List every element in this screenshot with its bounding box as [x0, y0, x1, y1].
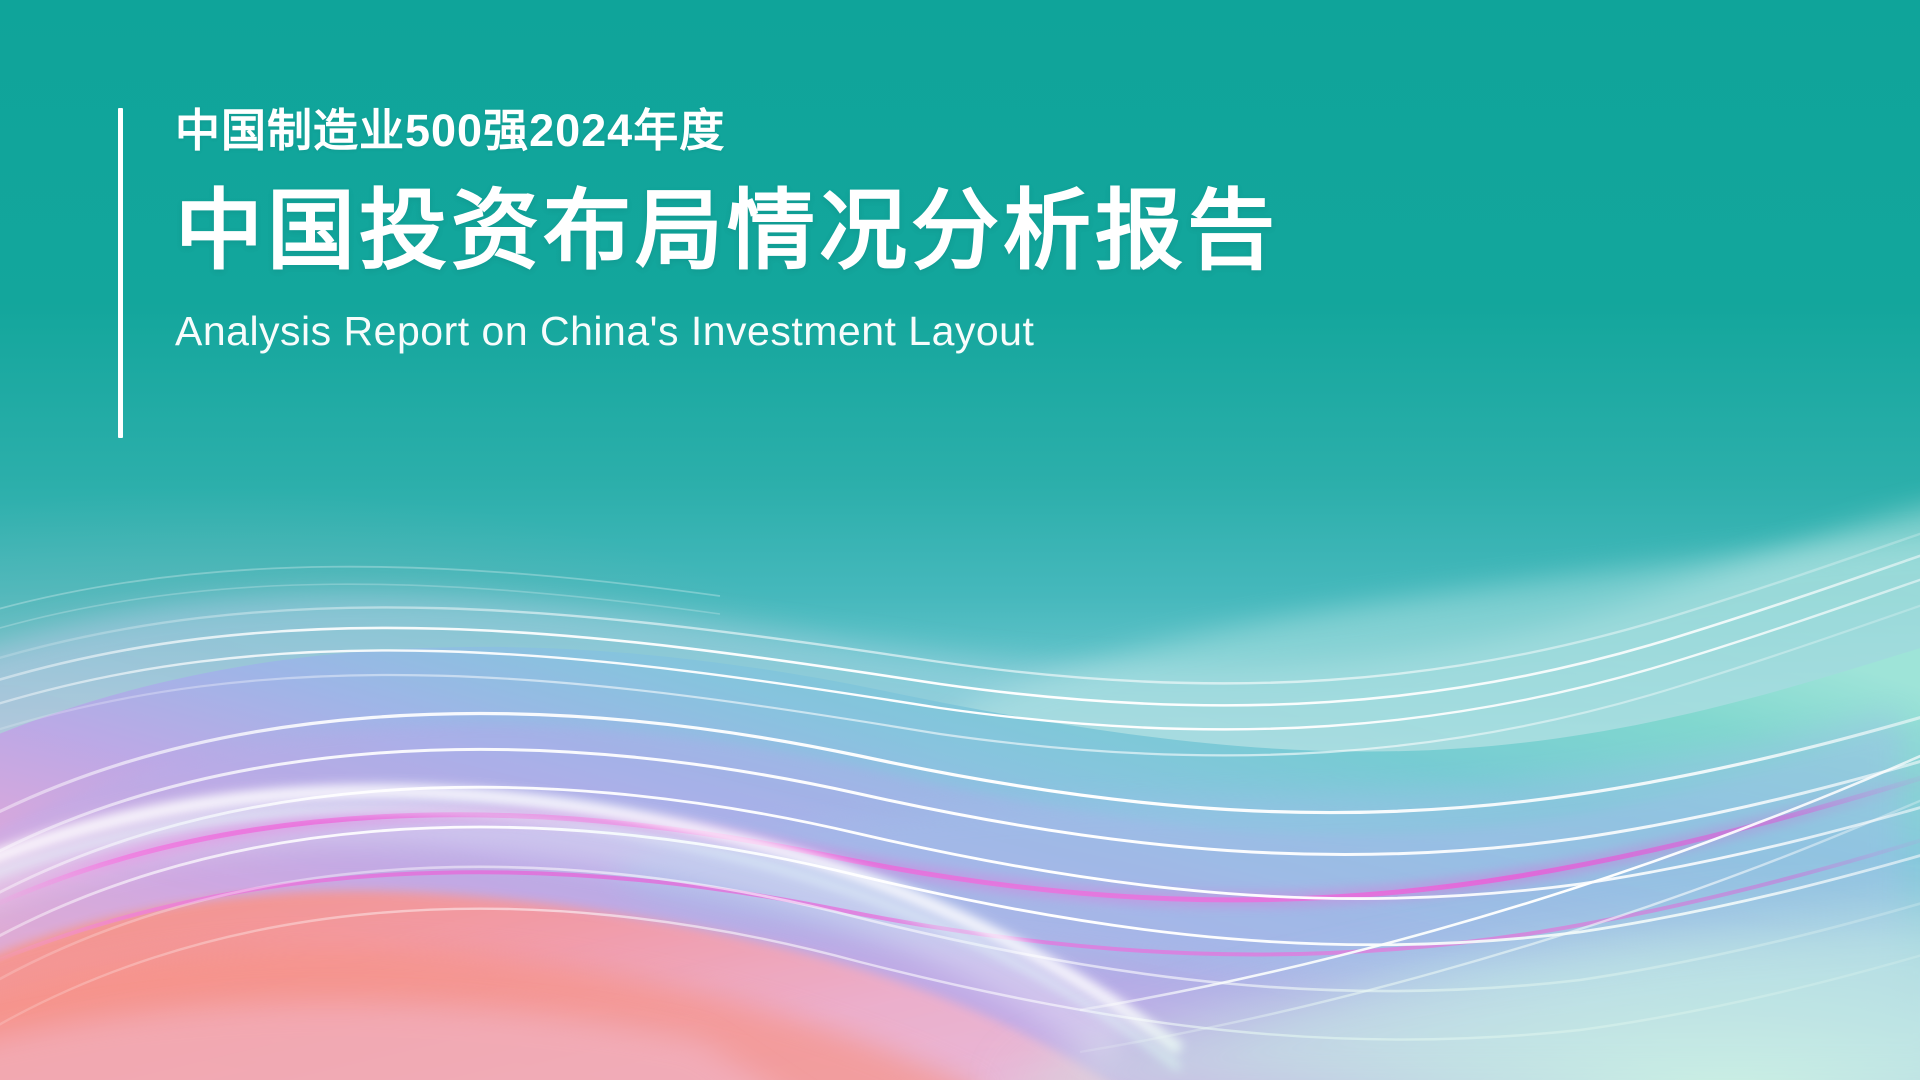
eyebrow-text: 中国制造业500强2024年度: [175, 108, 1279, 153]
subtitle-text: Analysis Report on China's Investment La…: [175, 311, 1279, 352]
page-title: 中国投资布局情况分析报告: [175, 185, 1279, 277]
titles: 中国制造业500强2024年度 中国投资布局情况分析报告 Analysis Re…: [175, 108, 1279, 438]
cover-text-block: 中国制造业500强2024年度 中国投资布局情况分析报告 Analysis Re…: [118, 108, 1279, 438]
accent-bar: [118, 108, 123, 438]
report-cover: 中国制造业500强2024年度 中国投资布局情况分析报告 Analysis Re…: [0, 0, 1920, 1080]
